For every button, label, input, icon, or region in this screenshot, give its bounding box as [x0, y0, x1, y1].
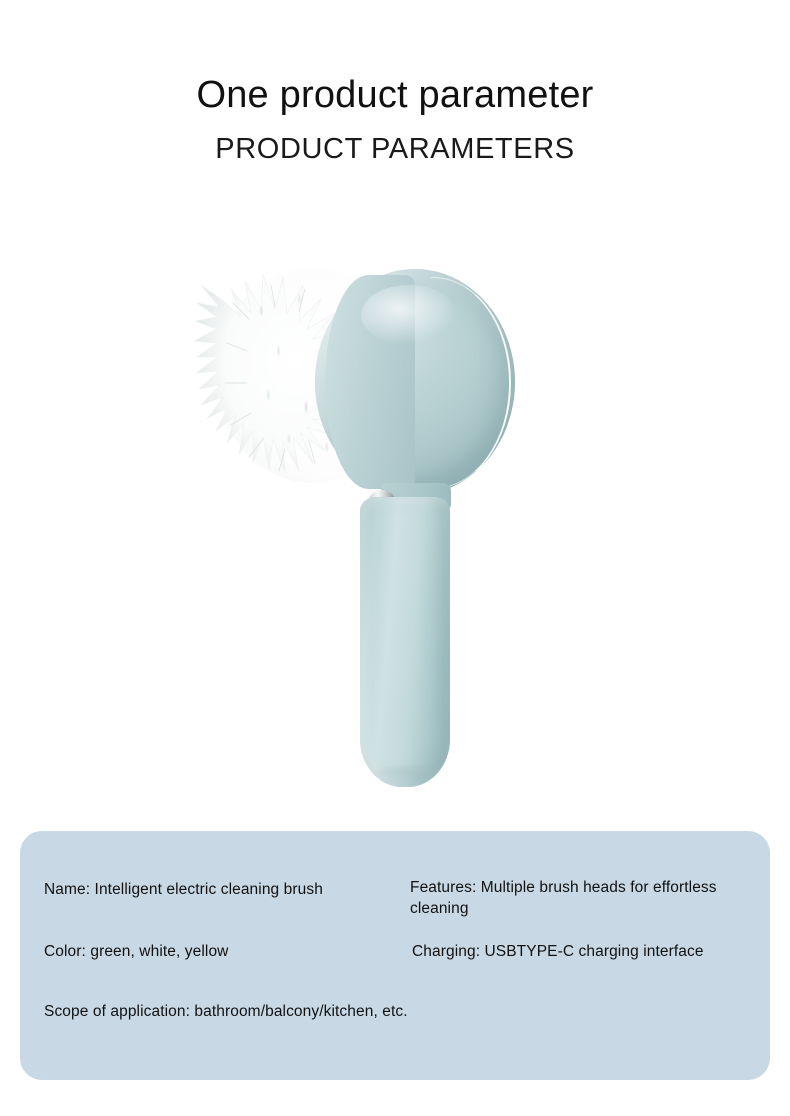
- page-header: One product parameter PRODUCT PARAMETERS: [0, 0, 790, 167]
- product-parameters-panel: Name: Intelligent electric cleaning brus…: [20, 831, 770, 1080]
- page-subtitle: PRODUCT PARAMETERS: [0, 118, 790, 167]
- parameters-grid: Name: Intelligent electric cleaning brus…: [20, 831, 770, 1080]
- product-image-stage: [0, 215, 790, 815]
- parameter-scope-of-application: Scope of application: bathroom/balcony/k…: [44, 1001, 644, 1022]
- parameter-features: Features: Multiple brush heads for effor…: [410, 877, 740, 919]
- parameter-color: Color: green, white, yellow: [44, 941, 404, 962]
- grip-handle: [360, 497, 450, 787]
- page-title: One product parameter: [0, 0, 790, 118]
- electric-cleaning-brush-illustration: [175, 245, 575, 790]
- handle-drop-shadow: [371, 765, 443, 781]
- housing-highlight: [361, 285, 457, 345]
- parameter-name: Name: Intelligent electric cleaning brus…: [44, 879, 404, 900]
- parameter-charging: Charging: USBTYPE-C charging interface: [412, 941, 752, 962]
